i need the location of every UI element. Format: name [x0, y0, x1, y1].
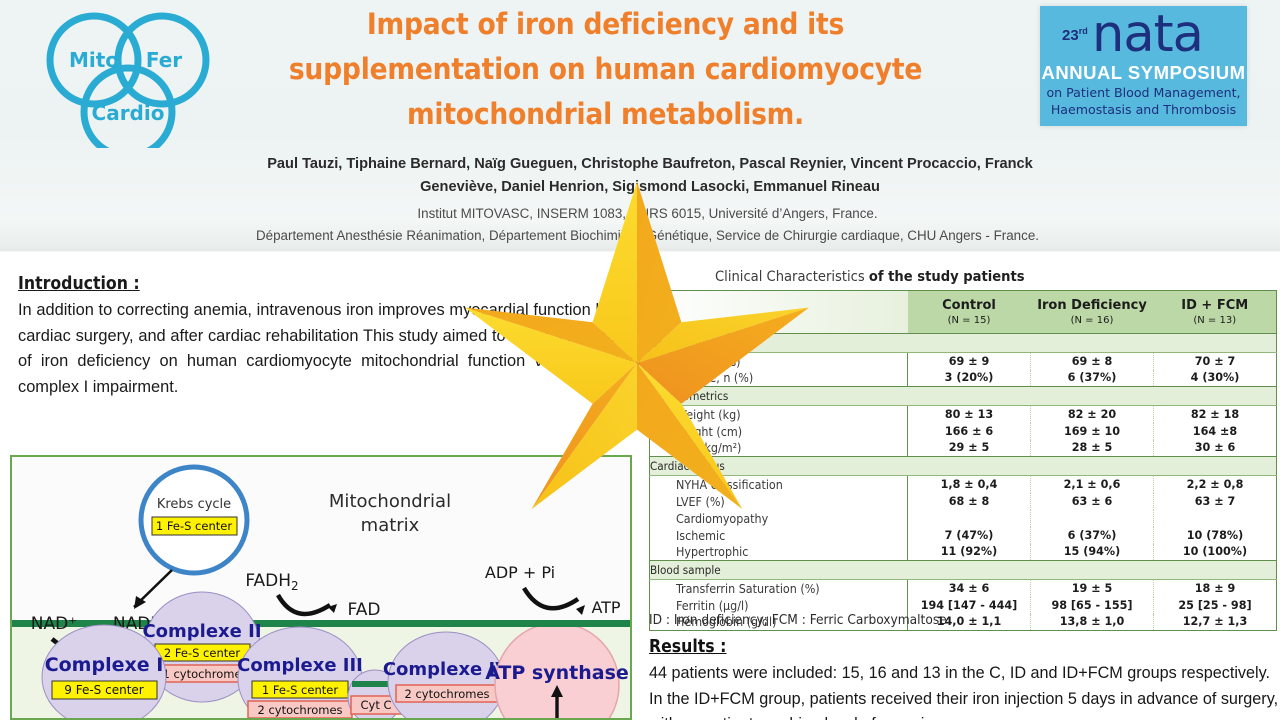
table-row: Age (years) 69 ± 9 69 ± 8 70 ± 7 [650, 353, 1277, 370]
logo-label-cardio: Cardio [92, 101, 165, 125]
complex-iv-cyt: 2 cytochromes [404, 687, 489, 701]
author-list: Paul Tauzi, Tiphaine Bernard, Naïg Guegu… [150, 153, 1150, 199]
table-row: NYHA classification 1,8 ± 0,4 2,1 ± 0,6 … [650, 476, 1277, 493]
nata-annual-symposium: ANNUAL SYMPOSIUM [1040, 62, 1247, 84]
table-row: Female, n (%) 3 (20%) 6 (37%) 4 (30%) [650, 370, 1277, 387]
results-column: Clinical Characteristics of the study pa… [645, 252, 1280, 720]
clinical-characteristics-table: Control (N = 15) Iron Deficiency (N = 16… [649, 290, 1277, 631]
adp-pi-label: ADP + Pi [485, 563, 555, 582]
complex-ii-label: Complexe II [142, 621, 261, 642]
nata-logo: 23rd nata ANNUAL SYMPOSIUM on Patient Bl… [1040, 6, 1247, 126]
author-line-2: Geneviève, Daniel Henrion, Sigismond Las… [150, 176, 1150, 199]
table-row: Ischemic 7 (47%) 6 (37%) 10 (78%) [650, 527, 1277, 544]
table-row: Cardiomyopathy [650, 510, 1277, 527]
complex-ii-fes: 2 Fe-S center [164, 646, 240, 660]
poster-title-line-2: supplementation on human cardiomyocyte [248, 47, 963, 92]
poster-body: Introduction : In addition to correcting… [0, 252, 1280, 720]
complex-iii-label: Complexe III [237, 655, 363, 676]
column-header-id-fcm: ID + FCM (N = 13) [1154, 291, 1277, 334]
nata-wordmark: nata [1092, 7, 1203, 63]
introduction-heading: Introduction : [18, 274, 642, 294]
results-text: 44 patients were included: 15, 16 and 13… [649, 661, 1279, 720]
krebs-fes-label: 1 Fe-S center [156, 519, 232, 533]
poster-title-line-3: mitochondrial metabolism. [248, 92, 963, 137]
cyt-c-label: Cyt C [360, 698, 391, 712]
table-row: Height (cm) 166 ± 6 169 ± 10 164 ±8 [650, 423, 1277, 440]
krebs-cycle-label: Krebs cycle [157, 497, 231, 512]
column-header-control: Control (N = 15) [908, 291, 1031, 334]
logo-label-fer: Fer [146, 48, 182, 72]
mitofercardio-logo: Mito Fer Cardio [22, 8, 232, 148]
matrix-label-line-2: matrix [361, 515, 420, 536]
introduction-section: Introduction : In addition to correcting… [18, 274, 642, 400]
table-section-band: Blood sample [650, 561, 1277, 580]
atp-label: ATP [591, 598, 620, 617]
nad-plus-label: NAD⁺ [31, 614, 77, 634]
poster-title-line-1: Impact of iron deficiency and its [248, 2, 963, 47]
column-header-iron-deficiency: Iron Deficiency (N = 16) [1031, 291, 1154, 334]
complex-i-fes: 9 Fe-S center [64, 683, 144, 697]
complex-i-label: Complexe I [45, 654, 164, 676]
affiliation-line-2: Département Anesthésie Réanimation, Dépa… [90, 225, 1205, 247]
results-heading: Results : [649, 637, 726, 657]
table-row: LVEF (%) 68 ± 8 63 ± 6 63 ± 7 [650, 493, 1277, 510]
table-row: Transferrin Saturation (%) 34 ± 6 19 ± 5… [650, 580, 1277, 597]
table-corner-cell [650, 291, 908, 334]
author-line-1: Paul Tauzi, Tiphaine Bernard, Naïg Guegu… [150, 153, 1150, 176]
table-row: Ferritin (µg/l) 194 [147 - 444] 98 [65 -… [650, 597, 1277, 614]
complex-ii-cyt: 1 cytochrome [162, 667, 241, 681]
fadh2-label: FADH2 [245, 571, 298, 593]
poster-header: Mito Fer Cardio Impact of iron deficienc… [0, 0, 1280, 252]
logo-label-mito: Mito [69, 48, 119, 72]
nata-subtitle-1: on Patient Blood Management, [1040, 84, 1247, 101]
introduction-text: In addition to correcting anemia, intrav… [18, 298, 642, 400]
table-footnote: ID : Iron deficiency; FCM : Ferric Carbo… [649, 612, 947, 628]
table-header-row: Control (N = 15) Iron Deficiency (N = 16… [650, 291, 1277, 334]
table-row: BMI (kg/m²) 29 ± 5 28 ± 5 30 ± 6 [650, 440, 1277, 457]
poster-canvas: Mito Fer Cardio Impact of iron deficienc… [0, 0, 1280, 720]
complex-iii-fes: 1 Fe-S center [262, 683, 338, 697]
clinical-table-title: Clinical Characteristics of the study pa… [715, 268, 1025, 285]
atp-synthase-label: ATP synthase [485, 662, 629, 684]
mitochondria-diagram: Krebs cycle 1 Fe-S center NAD⁺ NADH FADH… [10, 455, 632, 720]
nata-wordmark-row: 23rd nata [1040, 6, 1247, 64]
complex-iii-cyt: 2 cytochromes [257, 703, 342, 717]
fad-label: FAD [348, 600, 381, 620]
nata-ordinal: 23rd [1062, 26, 1088, 44]
table-row: Hypertrophic 11 (92%) 15 (94%) 10 (100%) [650, 544, 1277, 561]
table-section-band: Cardiac status [650, 457, 1277, 476]
matrix-label-line-1: Mitochondrial [329, 491, 451, 512]
table-section-band: Demographics [650, 334, 1277, 353]
table-row: Weight (kg) 80 ± 13 82 ± 20 82 ± 18 [650, 406, 1277, 423]
affiliations: Institut MITOVASC, INSERM 1083, CNRS 601… [90, 203, 1205, 247]
poster-title: Impact of iron deficiency and its supple… [248, 2, 963, 137]
affiliation-line-1: Institut MITOVASC, INSERM 1083, CNRS 601… [90, 203, 1205, 225]
table-section-band: Morphometrics [650, 387, 1277, 406]
nata-subtitle-2: Haemostasis and Thrombosis [1040, 101, 1247, 118]
